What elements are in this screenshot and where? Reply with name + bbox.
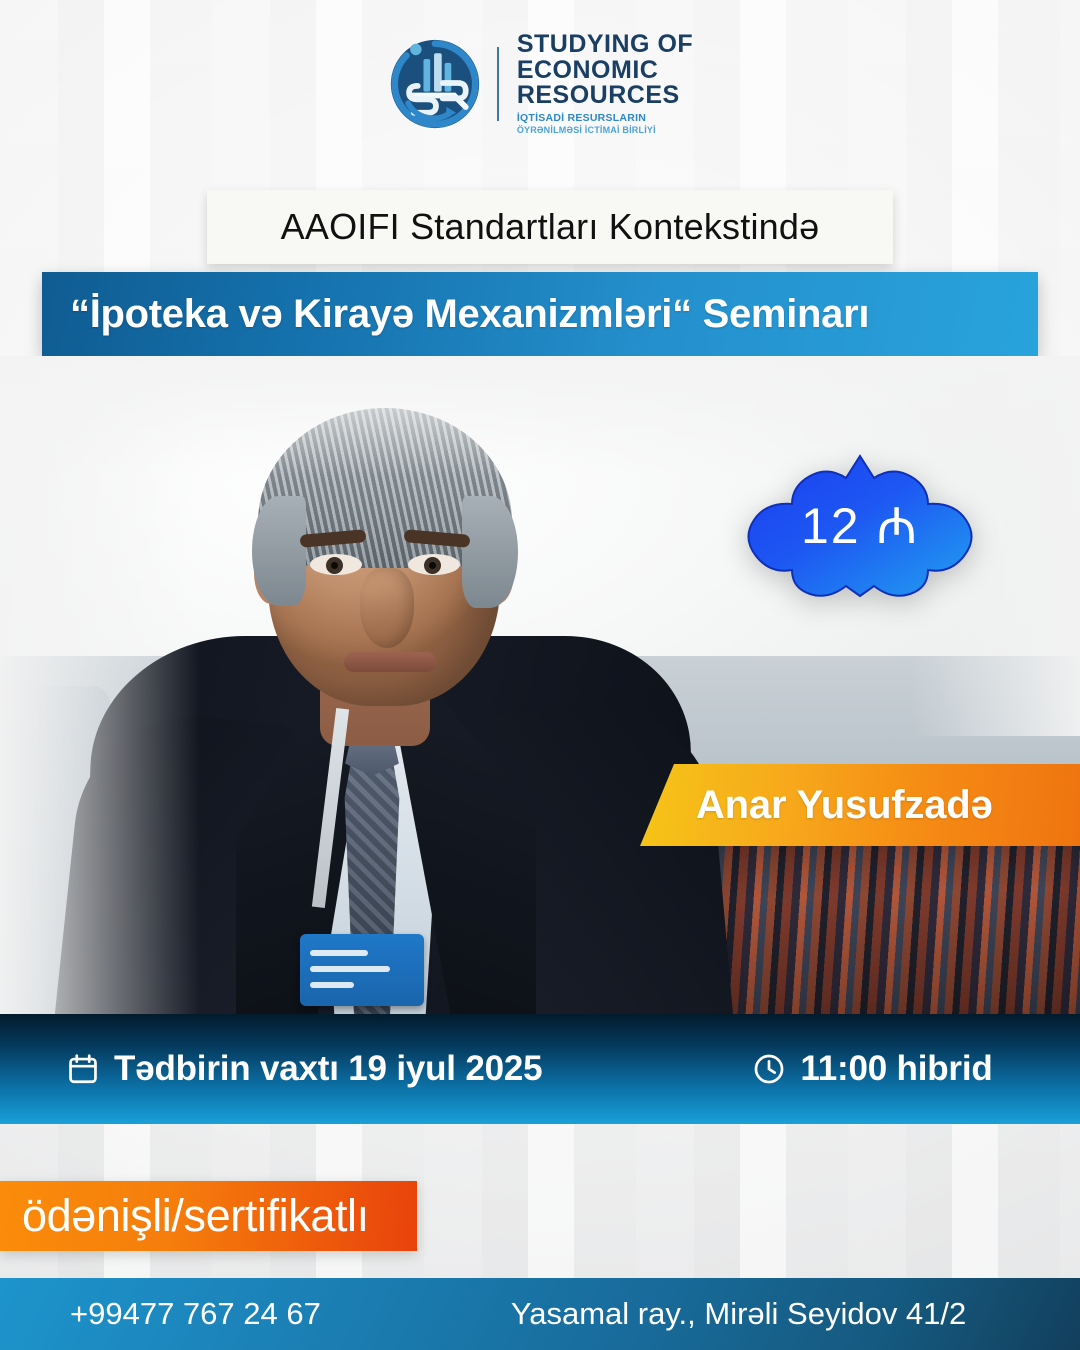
brand-line-3: RESOURCES — [517, 83, 693, 109]
calendar-icon — [66, 1052, 100, 1086]
brand-line-1: STUDYING OF — [517, 32, 693, 58]
right-iris — [424, 557, 441, 574]
ser-circular-logo-icon — [387, 36, 483, 132]
brand-sub-line-1: İQTİSADİ RESURSLARIN — [517, 112, 693, 125]
event-date-group: Tədbirin vaxtı 19 iyul 2025 — [66, 1049, 542, 1089]
clock-icon — [752, 1052, 786, 1086]
paid-certified-banner: ödənişli/sertifikatlı — [0, 1181, 417, 1251]
seminar-title-bar: “İpoteka və Kirayə Mexanizmləri“ Seminar… — [42, 272, 1038, 356]
badge-line-2 — [310, 966, 390, 972]
kicker-text: AAOIFI Standartları Kontekstində — [281, 206, 820, 248]
brand-sub-line-2: ÖYRƏNİLMƏSİ İCTİMAİ BİRLİYİ — [517, 125, 693, 136]
nose — [360, 568, 414, 648]
left-eye — [310, 554, 362, 575]
badge-line-3 — [310, 982, 354, 988]
speaker-name-text: Anar Yusufzadə — [640, 783, 993, 828]
speaker-name-banner: Anar Yusufzadə — [640, 764, 1080, 846]
brand-header: STUDYING OF ECONOMIC RESOURCES İQTİSADİ … — [0, 30, 1080, 138]
price-badge-label: 12 ₼ — [742, 452, 978, 600]
paid-certified-text: ödənişli/sertifikatlı — [0, 1190, 369, 1242]
kicker-bar: AAOIFI Standartları Kontekstində — [207, 190, 893, 264]
contact-address: Yasamal ray., Mirəli Seyidov 41/2 — [511, 1296, 966, 1332]
contact-phone[interactable]: +99477 767 24 67 — [70, 1296, 321, 1332]
right-eye — [408, 554, 460, 575]
conference-badge — [300, 934, 424, 1006]
event-date-text: Tədbirin vaxtı 19 iyul 2025 — [114, 1049, 542, 1089]
hair-right-side — [462, 496, 518, 608]
seminar-title-text: “İpoteka və Kirayə Mexanizmləri“ Seminar… — [42, 292, 869, 337]
logo-divider — [497, 47, 499, 121]
badge-line-1 — [310, 950, 368, 956]
datetime-bar: Tədbirin vaxtı 19 iyul 2025 11:00 hibrid — [0, 1014, 1080, 1124]
left-iris — [326, 557, 343, 574]
brand-line-2: ECONOMIC — [517, 58, 693, 84]
brand-wordmark: STUDYING OF ECONOMIC RESOURCES İQTİSADİ … — [517, 32, 693, 135]
mouth — [344, 652, 436, 672]
event-time-text: 11:00 hibrid — [800, 1049, 992, 1089]
contact-footer: +99477 767 24 67 Yasamal ray., Mirəli Se… — [0, 1278, 1080, 1350]
event-time-group: 11:00 hibrid — [752, 1049, 992, 1089]
hair-left-side — [252, 496, 306, 606]
price-badge: 12 ₼ — [742, 452, 978, 600]
event-poster: STUDYING OF ECONOMIC RESOURCES İQTİSADİ … — [0, 0, 1080, 1350]
